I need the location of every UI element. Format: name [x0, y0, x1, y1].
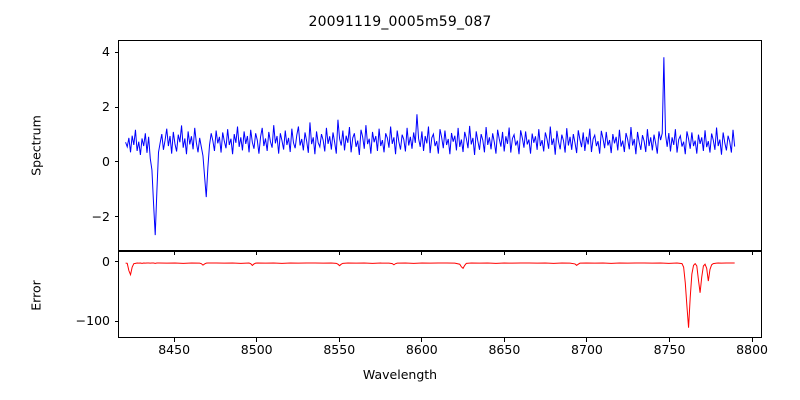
- x-tick-mark: [256, 251, 257, 255]
- x-tick-mark: [256, 338, 257, 342]
- y-tick-label: 4: [0, 44, 110, 59]
- x-tick-mark: [669, 338, 670, 342]
- x-tick-mark: [174, 338, 175, 342]
- x-tick-mark: [752, 338, 753, 342]
- y-tick-mark: [115, 52, 119, 53]
- x-tick-mark: [174, 251, 175, 255]
- x-tick-label: 8500: [227, 342, 287, 357]
- x-tick-label: 8450: [144, 342, 204, 357]
- error-line-plot: [119, 252, 761, 337]
- x-tick-mark: [504, 338, 505, 342]
- x-axis-label: Wavelength: [0, 367, 800, 382]
- y-tick-label: 0: [0, 254, 110, 269]
- y-tick-mark: [115, 107, 119, 108]
- y-tick-label: −2: [0, 209, 110, 224]
- spectrum-line-plot: [119, 41, 761, 250]
- matplotlib-figure: 20091119_0005m59_087 8450850085508600865…: [0, 0, 800, 400]
- y-tick-label: −100: [0, 313, 110, 328]
- y-tick-mark: [115, 321, 119, 322]
- x-tick-mark: [669, 251, 670, 255]
- x-tick-mark: [421, 251, 422, 255]
- error-axes: [118, 251, 762, 338]
- x-tick-mark: [586, 338, 587, 342]
- x-tick-label: 8700: [557, 342, 617, 357]
- x-tick-mark: [504, 251, 505, 255]
- spectrum-y-axis-label: Spectrum: [29, 86, 44, 206]
- y-tick-mark: [115, 161, 119, 162]
- y-tick-label: 0: [0, 154, 110, 169]
- spectrum-axes: [118, 40, 762, 251]
- x-tick-label: 8750: [640, 342, 700, 357]
- error-series: [126, 263, 735, 328]
- x-tick-mark: [339, 338, 340, 342]
- x-tick-label: 8650: [474, 342, 534, 357]
- x-tick-mark: [586, 251, 587, 255]
- x-tick-mark: [421, 338, 422, 342]
- x-tick-mark: [752, 251, 753, 255]
- y-tick-mark: [115, 261, 119, 262]
- x-tick-label: 8550: [309, 342, 369, 357]
- figure-title: 20091119_0005m59_087: [0, 14, 800, 30]
- error-y-axis-label: Error: [29, 236, 44, 356]
- x-tick-label: 8600: [392, 342, 452, 357]
- x-tick-mark: [339, 251, 340, 255]
- y-tick-mark: [115, 216, 119, 217]
- spectrum-series: [126, 57, 735, 235]
- y-tick-label: 2: [0, 99, 110, 114]
- x-tick-label: 8800: [722, 342, 782, 357]
